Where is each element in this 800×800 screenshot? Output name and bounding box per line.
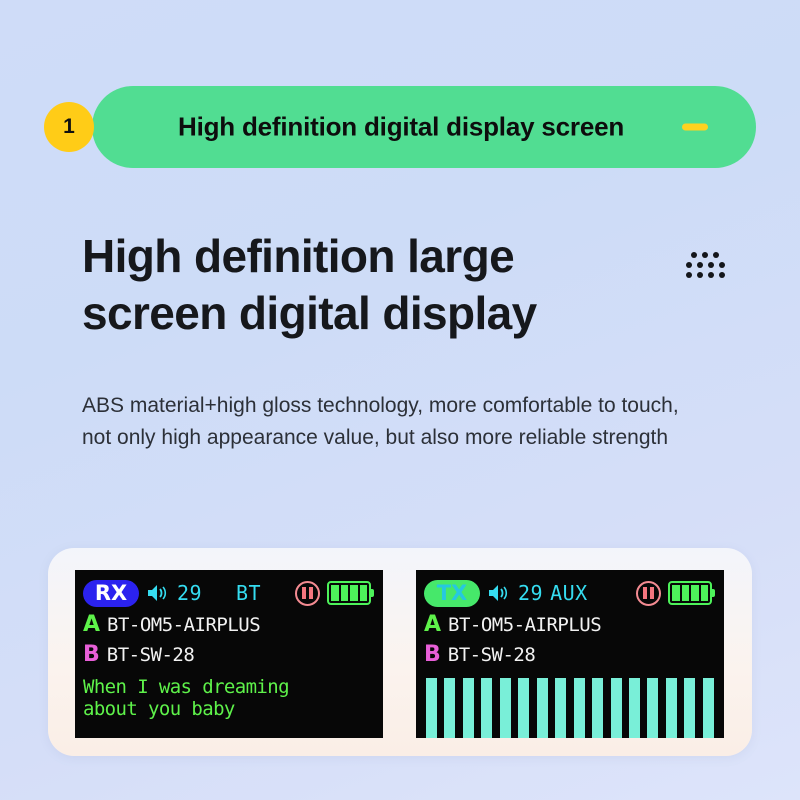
equalizer-bar [481, 678, 492, 738]
pause-icon[interactable] [636, 581, 661, 606]
equalizer-bar [684, 678, 695, 738]
lcd-screen-tx: TX 29 AUX [416, 570, 724, 738]
battery-segment [341, 585, 349, 601]
pause-bar [650, 587, 654, 599]
dot-row [681, 252, 729, 258]
battery-segment [682, 585, 690, 601]
battery-segment [672, 585, 680, 601]
header-title: High definition digital display screen [178, 112, 624, 143]
body-description: ABS material+high gloss technology, more… [82, 390, 682, 454]
lyrics-display: When I was dreaming about you baby [83, 676, 375, 721]
speaker-icon [487, 583, 511, 603]
battery-full-icon [327, 581, 371, 605]
headline-line-1: High definition large [82, 230, 514, 282]
battery-segment [691, 585, 699, 601]
lyrics-line-2: about you baby [83, 698, 375, 720]
channel-a-row: A BT-OM5-AIRPLUS [83, 612, 375, 638]
equalizer-bar [463, 678, 474, 738]
battery-segment [701, 585, 709, 601]
mode-badge-tx[interactable]: TX [424, 580, 480, 607]
equalizer-bar [647, 678, 658, 738]
channel-a-device-name: BT-OM5-AIRPLUS [448, 614, 601, 636]
volume-level: 29 [518, 581, 543, 605]
channel-b-key: B [424, 644, 441, 666]
mode-badge-rx[interactable]: RX [83, 580, 139, 607]
lcd-screen-rx: RX 29 BT [75, 570, 383, 738]
minus-icon[interactable] [682, 124, 708, 131]
section-header: High definition digital display screen 1 [44, 86, 756, 168]
battery-segment [331, 585, 339, 601]
equalizer-bar [500, 678, 511, 738]
equalizer-bar [426, 678, 437, 738]
equalizer-bar [537, 678, 548, 738]
status-bar: RX 29 BT [83, 578, 375, 608]
channel-b-device-name: BT-SW-28 [448, 644, 536, 666]
equalizer-bar [703, 678, 714, 738]
status-bar: TX 29 AUX [424, 578, 716, 608]
dot-icon [713, 252, 719, 258]
pause-bar [643, 587, 647, 599]
dot-icon [697, 272, 703, 278]
dot-icon [702, 252, 708, 258]
promo-page: High definition digital display screen 1… [0, 0, 800, 800]
audio-source-label: AUX [550, 581, 588, 605]
speaker-icon [146, 583, 170, 603]
page-title: High definition large screen digital dis… [82, 228, 642, 342]
pause-bar [302, 587, 306, 599]
equalizer-bar [555, 678, 566, 738]
device-screens-card: RX 29 BT [48, 548, 752, 756]
dot-icon [708, 272, 714, 278]
dot-icon [719, 262, 725, 268]
equalizer-bar [611, 678, 622, 738]
equalizer-bar [629, 678, 640, 738]
dot-icon [686, 262, 692, 268]
equalizer-bar [518, 678, 529, 738]
equalizer-bar [666, 678, 677, 738]
dot-icon [691, 252, 697, 258]
dot-icon [719, 272, 725, 278]
dot-grid-decoration [681, 252, 729, 282]
battery-full-icon [668, 581, 712, 605]
channel-a-device-name: BT-OM5-AIRPLUS [107, 614, 260, 636]
pause-icon[interactable] [295, 581, 320, 606]
equalizer-bar [592, 678, 603, 738]
volume-level: 29 [177, 581, 202, 605]
dot-icon [697, 262, 703, 268]
dot-icon [686, 272, 692, 278]
step-number-badge: 1 [44, 102, 94, 152]
battery-segment [360, 585, 368, 601]
channel-a-key: A [83, 614, 100, 636]
channel-b-row: B BT-SW-28 [424, 642, 716, 668]
audio-source-label: BT [236, 581, 261, 605]
pause-bar [309, 587, 313, 599]
equalizer-bar [444, 678, 455, 738]
lyrics-line-1: When I was dreaming [83, 676, 375, 698]
channel-b-device-name: BT-SW-28 [107, 644, 195, 666]
channel-b-key: B [83, 644, 100, 666]
headline-line-2: screen digital display [82, 285, 642, 342]
dot-row [681, 272, 729, 278]
header-pill[interactable]: High definition digital display screen [92, 86, 756, 168]
equalizer-bar [574, 678, 585, 738]
dot-row [681, 262, 729, 268]
channel-a-row: A BT-OM5-AIRPLUS [424, 612, 716, 638]
battery-segment [350, 585, 358, 601]
channel-a-key: A [424, 614, 441, 636]
channel-b-row: B BT-SW-28 [83, 642, 375, 668]
equalizer-display [424, 678, 716, 738]
dot-icon [708, 262, 714, 268]
